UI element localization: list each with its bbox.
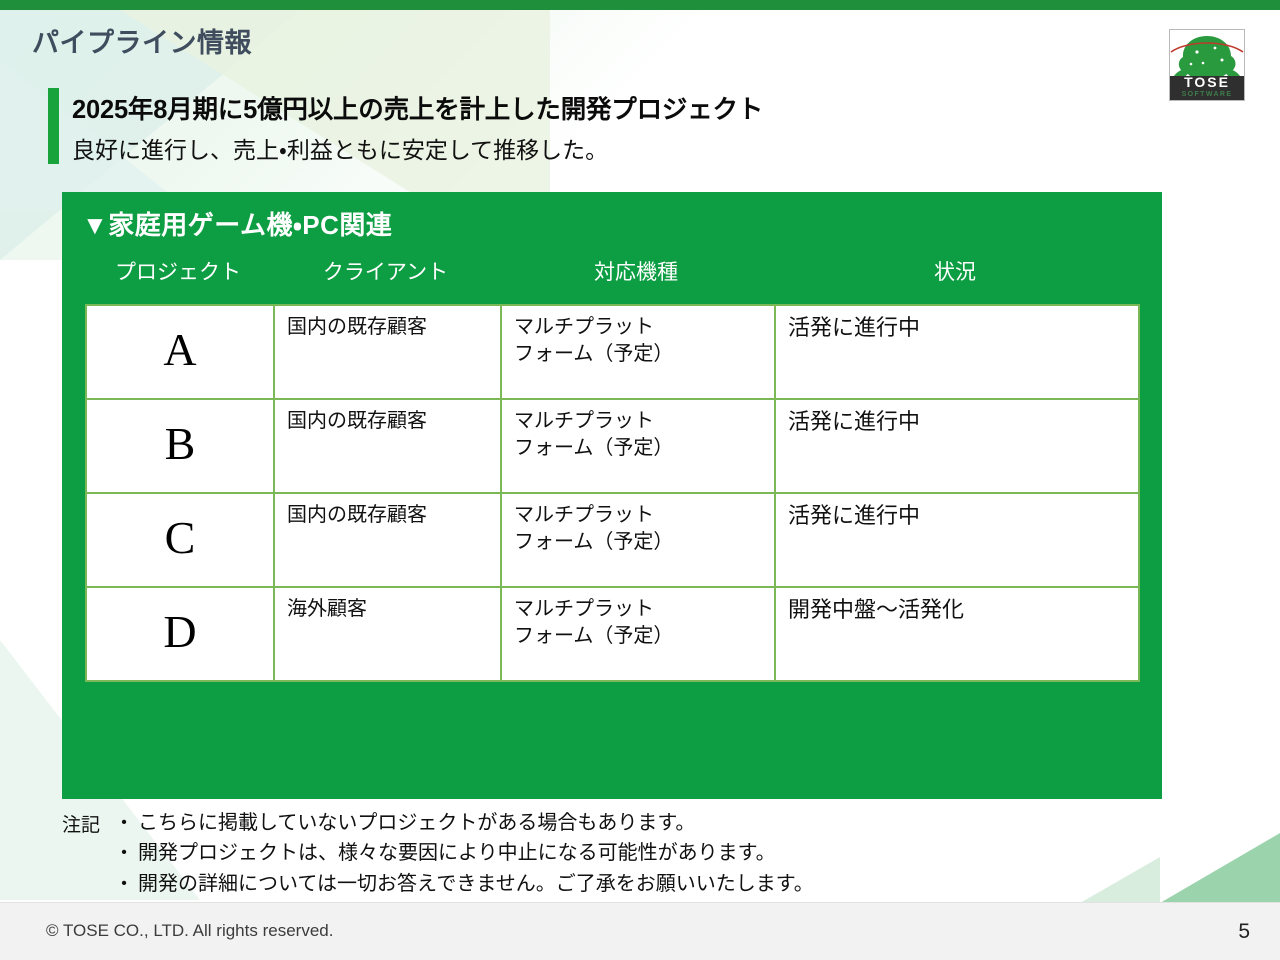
status-text: 活発に進行中 xyxy=(788,502,1126,531)
client-text: 国内の既存顧客 xyxy=(287,314,488,341)
page-title: パイプライン情報 xyxy=(32,21,252,60)
column-header-platform: 対応機種 xyxy=(499,256,773,286)
note-item: • 開発プロジェクトは、様々な要因により中止になる可能性があります。 xyxy=(110,838,1210,868)
bullet-icon: • xyxy=(110,869,138,899)
panel-section-title: ▼家庭用ゲーム機・PC関連 xyxy=(82,205,392,242)
cell-project: B xyxy=(86,399,274,493)
bullet-icon: • xyxy=(110,838,138,868)
note-item: • 開発の詳細については一切お答えできません。ご了承をお願いいたします。 xyxy=(110,869,1210,899)
notes-label: 注記 xyxy=(62,810,100,837)
table-row: C 国内の既存顧客 マルチプラット フォーム（予定） 活発に進行中 xyxy=(86,493,1139,587)
logo-frame: TOSE SOFTWARE xyxy=(1169,29,1245,101)
logo-subwordmark: SOFTWARE xyxy=(1170,90,1244,99)
client-text: 国内の既存顧客 xyxy=(287,502,488,529)
tose-software-logo: TOSE SOFTWARE xyxy=(1161,25,1253,103)
note-text: 開発の詳細については一切お答えできません。ご了承をお願いいたします。 xyxy=(138,869,814,899)
column-header-status: 状況 xyxy=(773,256,1137,286)
cell-status: 活発に進行中 xyxy=(775,305,1139,399)
copyright-text: © TOSE CO., LTD. All rights reserved. xyxy=(46,921,333,941)
platform-text-line2: フォーム（予定） xyxy=(514,341,762,368)
platform-text-line2: フォーム（予定） xyxy=(514,435,762,462)
note-text: 開発プロジェクトは、様々な要因により中止になる可能性があります。 xyxy=(138,838,776,868)
project-letter: B xyxy=(87,421,273,467)
column-header-project: プロジェクト xyxy=(84,256,272,286)
logo-wordmark: TOSE xyxy=(1170,76,1244,89)
cell-client: 海外顧客 xyxy=(274,587,501,681)
platform-text-line1: マルチプラット xyxy=(514,408,762,435)
headline-sub: 良好に進行し、売上・利益ともに安定して推移した。 xyxy=(72,131,608,165)
project-letter: D xyxy=(87,609,273,655)
platform-text-line1: マルチプラット xyxy=(514,314,762,341)
cell-client: 国内の既存顧客 xyxy=(274,399,501,493)
pipeline-panel: ▼家庭用ゲーム機・PC関連 プロジェクト クライアント 対応機種 状況 A 国内… xyxy=(62,192,1162,799)
cell-platform: マルチプラット フォーム（予定） xyxy=(501,493,775,587)
bullet-icon: • xyxy=(110,808,138,838)
status-text: 活発に進行中 xyxy=(788,314,1126,343)
slide-canvas: パイプライン情報 TOSE SOFTWARE 2025年8月期に5億円以上の売 xyxy=(0,0,1280,960)
cell-status: 活発に進行中 xyxy=(775,399,1139,493)
table-row: B 国内の既存顧客 マルチプラット フォーム（予定） 活発に進行中 xyxy=(86,399,1139,493)
cell-status: 活発に進行中 xyxy=(775,493,1139,587)
note-text: こちらに掲載していないプロジェクトがある場合もあります。 xyxy=(138,808,695,838)
table-row: D 海外顧客 マルチプラット フォーム（予定） 開発中盤〜活発化 xyxy=(86,587,1139,681)
pipeline-table: A 国内の既存顧客 マルチプラット フォーム（予定） 活発に進行中 xyxy=(85,304,1140,682)
platform-text-line1: マルチプラット xyxy=(514,502,762,529)
platform-text-line2: フォーム（予定） xyxy=(514,623,762,650)
table-row: A 国内の既存顧客 マルチプラット フォーム（予定） 活発に進行中 xyxy=(86,305,1139,399)
client-text: 海外顧客 xyxy=(287,596,488,623)
status-text: 開発中盤〜活発化 xyxy=(788,596,1126,625)
cell-status: 開発中盤〜活発化 xyxy=(775,587,1139,681)
headline-accent-bar xyxy=(48,88,59,164)
cell-client: 国内の既存顧客 xyxy=(274,493,501,587)
cell-platform: マルチプラット フォーム（予定） xyxy=(501,587,775,681)
cell-client: 国内の既存顧客 xyxy=(274,305,501,399)
headline-main: 2025年8月期に5億円以上の売上を計上した開発プロジェクト xyxy=(72,89,763,126)
project-letter: C xyxy=(87,515,273,561)
cell-project: C xyxy=(86,493,274,587)
column-header-client: クライアント xyxy=(272,256,499,286)
cell-platform: マルチプラット フォーム（予定） xyxy=(501,399,775,493)
cell-project: A xyxy=(86,305,274,399)
platform-text-line2: フォーム（予定） xyxy=(514,529,762,556)
status-text: 活発に進行中 xyxy=(788,408,1126,437)
cell-platform: マルチプラット フォーム（予定） xyxy=(501,305,775,399)
platform-text-line1: マルチプラット xyxy=(514,596,762,623)
cell-project: D xyxy=(86,587,274,681)
table-column-headers: プロジェクト クライアント 対応機種 状況 xyxy=(84,256,1146,288)
client-text: 国内の既存顧客 xyxy=(287,408,488,435)
notes-list: • こちらに掲載していないプロジェクトがある場合もあります。 • 開発プロジェク… xyxy=(110,808,1210,899)
project-letter: A xyxy=(87,327,273,373)
page-number: 5 xyxy=(1238,920,1250,944)
top-accent-bar xyxy=(0,0,1280,10)
note-item: • こちらに掲載していないプロジェクトがある場合もあります。 xyxy=(110,808,1210,838)
